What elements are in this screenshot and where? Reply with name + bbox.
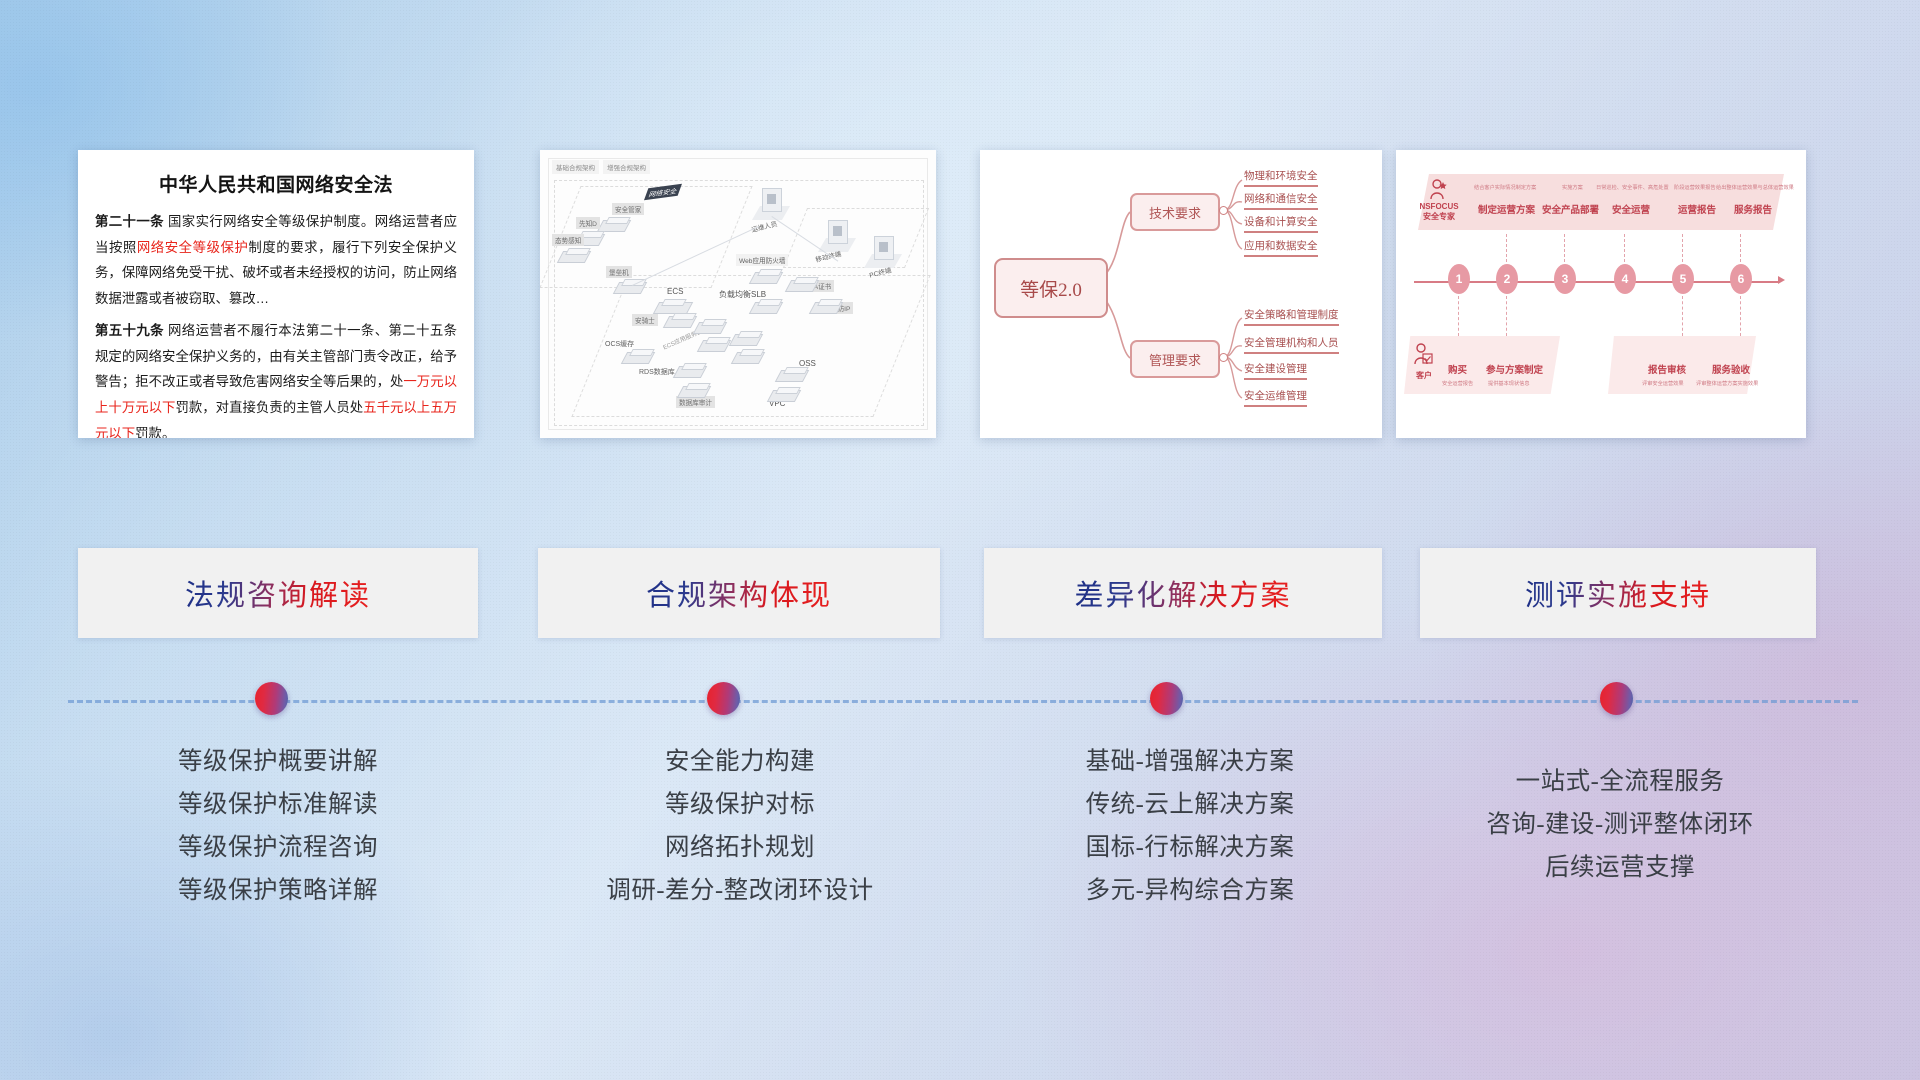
timeline-connector-b2 <box>1506 296 1507 336</box>
section-list-4: 一站式-全流程服务 咨询-建设-测评整体闭环 后续运营支撑 <box>1410 740 1830 889</box>
architecture-diagram: 基础合规架构 增强合规架构 网络安全 安全管家 先知D 态势感知 堡垒机 运维人… <box>540 150 936 438</box>
top-title-5: 服务报告 <box>1734 202 1772 216</box>
label-situation-awareness: 态势感知 <box>552 234 584 246</box>
article-21-label: 第二十一条 <box>95 214 164 229</box>
mindmap-leaf-network-communication: 网络和通信安全 <box>1244 191 1318 210</box>
card-row: 中华人民共和国网络安全法 第二十一条 国家实行网络安全等级保护制度。网络运营者应… <box>0 150 1920 450</box>
timeline-node-1[interactable] <box>255 682 288 715</box>
section-title-box-4[interactable]: 测评实施支持 <box>1420 548 1816 638</box>
node-vpc <box>770 386 796 404</box>
card-cloud-architecture[interactable]: 基础合规架构 增强合规架构 网络安全 安全管家 先知D 态势感知 堡垒机 运维人… <box>540 150 936 438</box>
mindmap-leaf-security-operations: 安全运维管理 <box>1244 388 1307 407</box>
timeline-step-5[interactable]: 5 <box>1672 264 1694 294</box>
list-item: 多元-异构综合方案 <box>980 869 1400 912</box>
section-list-3: 基础-增强解决方案 传统-云上解决方案 国标-行标解决方案 多元-异构综合方案 <box>980 740 1400 912</box>
section-title-inner-3: 差异化解决方案 <box>984 548 1382 638</box>
bottom-title-3: 报告审核 <box>1648 362 1686 376</box>
top-title-4: 运营报告 <box>1678 202 1716 216</box>
list-item: 等级保护标准解读 <box>68 783 488 826</box>
section-title-box-3[interactable]: 差异化解决方案 <box>984 548 1382 638</box>
node-database-audit <box>680 382 706 400</box>
customer-person-icon <box>1412 342 1434 368</box>
tab-enhanced-architecture[interactable]: 增强合规架构 <box>603 160 650 174</box>
timeline-node-3[interactable] <box>1150 682 1183 715</box>
label-rds-database: RDS数据库 <box>636 366 678 378</box>
timeline-connector-b1 <box>1458 296 1459 336</box>
section-list-2: 安全能力构建 等级保护对标 网络拓扑规划 调研-差分-整改闭环设计 <box>530 740 950 912</box>
section-title-inner-1: 法规咨询解读 <box>78 548 478 638</box>
tab-basic-architecture[interactable]: 基础合规架构 <box>552 160 599 174</box>
law-article-59: 第五十九条 网络运营者不履行本法第二十一条、第二十五条规定的网络安全保护义务的，… <box>95 318 457 438</box>
top-sub-2: 实施方案 <box>1562 184 1583 191</box>
top-title-2: 安全产品部署 <box>1542 202 1599 216</box>
node-anqishi <box>666 312 692 330</box>
node-ops-staff <box>762 188 782 212</box>
collapse-knob-technical[interactable] <box>1219 206 1228 215</box>
bottom-title-4: 服务验收 <box>1712 362 1750 376</box>
label-anqishi: 安骑士 <box>632 314 658 326</box>
card-nsfocus-timeline[interactable]: NSFOCUS 安全专家 结合客户实际情况制定方案 制定运营方案 实施方案 安全… <box>1396 150 1806 438</box>
timeline-connector-2 <box>1506 234 1507 262</box>
top-title-3: 安全运营 <box>1612 202 1650 216</box>
timeline-connector-b4 <box>1740 296 1741 336</box>
law-title: 中华人民共和国网络安全法 <box>95 170 457 197</box>
bottom-sub-3: 评审安全运营效果 <box>1642 380 1684 387</box>
node-app-server-4 <box>734 348 760 366</box>
node-waf <box>752 268 778 286</box>
section-title-inner-4: 测评实施支持 <box>1420 548 1816 638</box>
timeline-step-2[interactable]: 2 <box>1496 264 1518 294</box>
mindmap-leaf-physical-environment: 物理和环境安全 <box>1244 168 1318 187</box>
mindmap-root: 等保2.0 <box>994 258 1108 318</box>
timeline-connector-5 <box>1682 234 1683 262</box>
role-nsfocus-expert: NSFOCUS 安全专家 <box>1410 202 1468 223</box>
law-article-21: 第二十一条 国家实行网络安全等级保护制度。网络运营者应当按照网络安全等级保护制度… <box>95 209 457 312</box>
role-nsfocus-expert-line1: NSFOCUS <box>1410 202 1468 212</box>
node-pc-terminal <box>874 236 894 260</box>
label-security-butler: 安全管家 <box>612 203 644 215</box>
node-ocs-cache <box>624 348 650 366</box>
timeline-connector-b3 <box>1682 296 1683 336</box>
card-cybersecurity-law[interactable]: 中华人民共和国网络安全法 第二十一条 国家实行网络安全等级保护制度。网络运营者应… <box>78 150 474 438</box>
list-item: 国标-行标解决方案 <box>980 826 1400 869</box>
timeline-diagram: NSFOCUS 安全专家 结合客户实际情况制定方案 制定运营方案 实施方案 安全… <box>1396 150 1806 438</box>
mindmap-branch-technical: 技术要求 <box>1130 193 1220 231</box>
node-app-server-2 <box>700 336 726 354</box>
node-ca-certificate <box>788 276 814 294</box>
list-item: 等级保护策略详解 <box>68 869 488 912</box>
section-title-box-1[interactable]: 法规咨询解读 <box>78 548 478 638</box>
bottom-title-1: 购买 <box>1448 362 1467 376</box>
node-rds-database <box>676 362 702 380</box>
mindmap-leaf-application-data: 应用和数据安全 <box>1244 238 1318 257</box>
section-list-1: 等级保护概要讲解 等级保护标准解读 等级保护流程咨询 等级保护策略详解 <box>68 740 488 912</box>
node-mobile-terminal <box>828 220 848 244</box>
article-59-label: 第五十九条 <box>95 323 164 338</box>
mindmap-leaf-device-compute: 设备和计算安全 <box>1244 214 1318 233</box>
role-nsfocus-expert-line2: 安全专家 <box>1410 212 1468 222</box>
mindmap-leaf-security-construction: 安全建设管理 <box>1244 361 1307 380</box>
section-title-box-2[interactable]: 合规架构体现 <box>538 548 940 638</box>
bottom-title-2: 参与方案制定 <box>1486 362 1543 376</box>
top-sub-3: 日常巡检、安全事件、高危处置 <box>1596 184 1669 191</box>
node-oss <box>778 366 804 384</box>
timeline-arrow-icon <box>1778 276 1785 284</box>
timeline-dashed-line <box>68 700 1858 703</box>
node-app-server-3 <box>732 330 758 348</box>
node-bastion-host <box>616 278 642 296</box>
label-xianzhi-d: 先知D <box>576 217 600 229</box>
section-title-label-4: 测评实施支持 <box>1525 572 1711 614</box>
timeline-node-4[interactable] <box>1600 682 1633 715</box>
law-document: 中华人民共和国网络安全法 第二十一条 国家实行网络安全等级保护制度。网络运营者应… <box>78 150 474 438</box>
list-item: 网络拓扑规划 <box>530 826 950 869</box>
list-item: 后续运营支撑 <box>1410 846 1830 889</box>
architecture-tabs: 基础合规架构 增强合规架构 <box>552 160 650 174</box>
bottom-sub-2: 提供基本现状信息 <box>1488 380 1530 387</box>
list-item: 基础-增强解决方案 <box>980 740 1400 783</box>
bottom-sub-4: 评审整体运营方案实施效果 <box>1696 380 1758 387</box>
section-title-label-1: 法规咨询解读 <box>185 572 371 614</box>
section-title-inner-2: 合规架构体现 <box>538 548 940 638</box>
timeline-step-1[interactable]: 1 <box>1448 264 1470 294</box>
article-59-text-c: 罚款。 <box>135 426 175 438</box>
article-59-text-b: 罚款，对直接负责的主管人员处 <box>175 400 363 415</box>
section-title-label-3: 差异化解决方案 <box>1074 572 1291 614</box>
section-lists-row: 等级保护概要讲解 等级保护标准解读 等级保护流程咨询 等级保护策略详解 安全能力… <box>0 740 1920 970</box>
top-sub-5: 给出整体运营效果与总体运营效果 <box>1716 184 1794 191</box>
timeline-connector-3 <box>1564 234 1565 262</box>
timeline-step-3[interactable]: 3 <box>1554 264 1576 294</box>
bottom-sub-1: 安全运营报告 <box>1442 380 1473 387</box>
list-item: 等级保护对标 <box>530 783 950 826</box>
node-slb <box>752 298 778 316</box>
list-item: 等级保护概要讲解 <box>68 740 488 783</box>
list-item: 咨询-建设-测评整体闭环 <box>1410 803 1830 846</box>
list-item: 传统-云上解决方案 <box>980 783 1400 826</box>
card-mindmap-dengbao[interactable]: 等保2.0 技术要求 管理要求 物理和环境安全 网络和通信安全 设备和计算安全 … <box>980 150 1382 438</box>
mindmap-branch-management: 管理要求 <box>1130 340 1220 378</box>
timeline-connector-6 <box>1740 234 1741 262</box>
mindmap-leaf-security-policy: 安全策略和管理制度 <box>1244 307 1339 326</box>
label-ecs: ECS <box>664 286 686 297</box>
section-title-label-2: 合规架构体现 <box>646 572 832 614</box>
list-item: 一站式-全流程服务 <box>1410 760 1830 803</box>
collapse-knob-management[interactable] <box>1219 353 1228 362</box>
expert-person-icon <box>1426 178 1450 202</box>
node-anti-ddos-ip <box>812 298 838 316</box>
timeline-step-4[interactable]: 4 <box>1614 264 1636 294</box>
mindmap-leaf-security-org-personnel: 安全管理机构和人员 <box>1244 335 1339 354</box>
mindmap: 等保2.0 技术要求 管理要求 物理和环境安全 网络和通信安全 设备和计算安全 … <box>980 150 1382 438</box>
timeline-step-6[interactable]: 6 <box>1730 264 1752 294</box>
section-title-row: 法规咨询解读 合规架构体现 差异化解决方案 测评实施支持 <box>0 548 1920 648</box>
label-bastion-host: 堡垒机 <box>606 266 632 278</box>
list-item: 安全能力构建 <box>530 740 950 783</box>
article-21-highlight: 网络安全等级保护 <box>137 240 249 255</box>
node-app-server-1 <box>696 318 722 336</box>
label-waf: Web应用防火墙 <box>736 254 788 266</box>
node-situation-awareness <box>560 247 586 265</box>
timeline-top-banner <box>1418 174 1784 230</box>
role-customer: 客户 <box>1408 370 1440 381</box>
top-sub-4: 阶段运营效果报告 <box>1674 184 1716 191</box>
list-item: 调研-差分-整改闭环设计 <box>530 869 950 912</box>
top-sub-1: 结合客户实际情况制定方案 <box>1474 184 1536 191</box>
list-item: 等级保护流程咨询 <box>68 826 488 869</box>
top-title-1: 制定运营方案 <box>1478 202 1535 216</box>
timeline-node-2[interactable] <box>707 682 740 715</box>
timeline-connector-4 <box>1624 234 1625 262</box>
